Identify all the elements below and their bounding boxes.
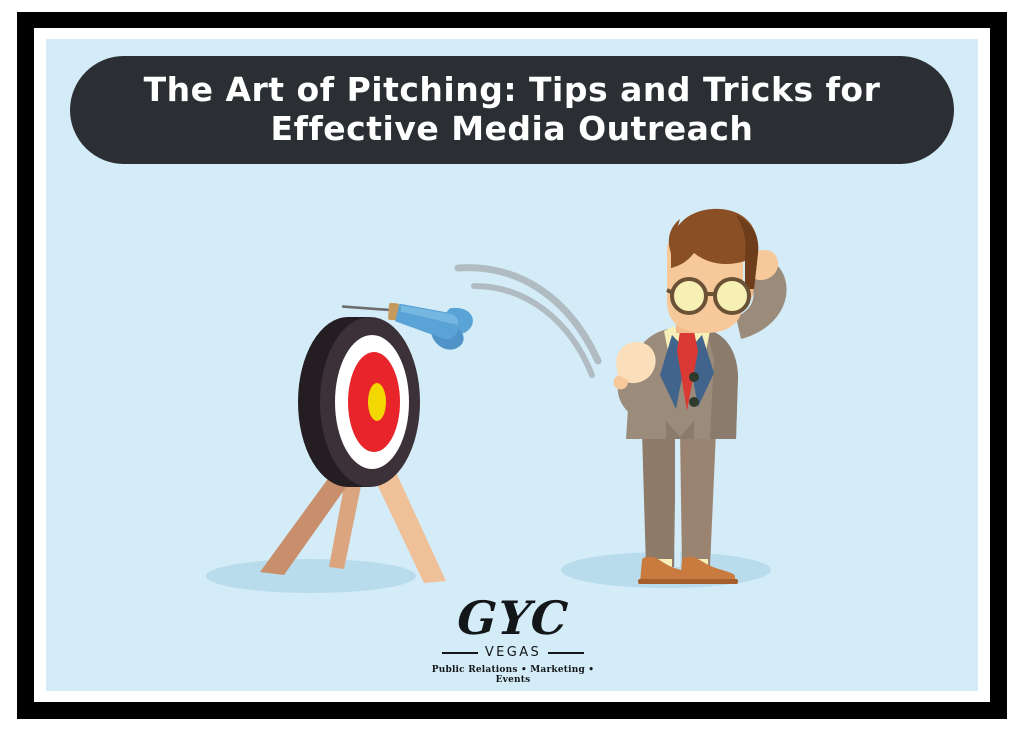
glasses-lens-left	[672, 279, 706, 313]
glasses-lens-right	[715, 279, 749, 313]
poster-root: The Art of Pitching: Tips and Tricks for…	[0, 0, 1024, 731]
dart-trajectory-arcs	[458, 268, 598, 375]
shoe-right-sole	[678, 579, 738, 584]
logo-city-row: VEGAS	[418, 646, 608, 659]
trajectory-arc-2	[474, 286, 592, 375]
leg-gap	[675, 439, 680, 567]
target-bullseye	[368, 383, 386, 421]
logo-rule-right	[548, 652, 584, 654]
glasses-temple	[667, 290, 673, 293]
logo-wordmark: GYC	[416, 595, 609, 641]
jacket-button-bottom	[689, 397, 699, 407]
logo-tagline: Public Relations • Marketing • Events	[418, 665, 608, 685]
trouser-left-leg	[642, 431, 676, 567]
brand-logo: GYC VEGAS Public Relations • Marketing •…	[418, 595, 608, 685]
jacket-button-top	[689, 372, 699, 382]
trouser-right-leg	[680, 431, 716, 567]
dart-target-board	[298, 317, 420, 487]
poster-canvas: The Art of Pitching: Tips and Tricks for…	[46, 39, 978, 691]
businessman-character	[614, 209, 787, 584]
target-ground-shadow	[206, 559, 416, 593]
logo-city-label: VEGAS	[485, 646, 541, 659]
logo-rule-left	[442, 652, 478, 654]
